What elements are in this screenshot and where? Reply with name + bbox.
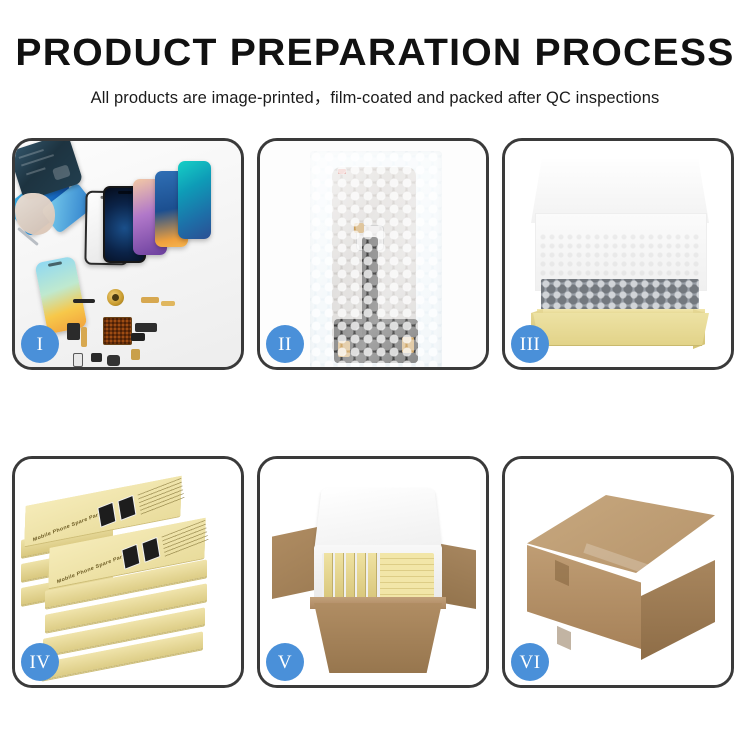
- step-badge-iii: III: [511, 325, 549, 363]
- step-badge-vi: VI: [511, 643, 549, 681]
- kraft-box-upright-3: [346, 553, 355, 599]
- styrofoam-interior-icon: [322, 553, 434, 599]
- part-sim-tray-icon: [73, 353, 83, 367]
- part-flex-cable-1-icon: [141, 297, 159, 303]
- kraft-box-upright-4: [357, 553, 366, 599]
- kraft-boxes-flat-stack: [380, 553, 434, 599]
- step-vi-photo: VI: [505, 459, 731, 685]
- part-speaker-icon: [73, 299, 95, 303]
- step-ii-photo: II: [260, 141, 486, 367]
- step-panel-vi[interactable]: VI: [502, 456, 734, 688]
- step-iii-photo: III: [505, 141, 731, 367]
- part-vibrator-icon: [107, 355, 120, 366]
- part-flex-cable-3-icon: [135, 323, 157, 332]
- part-button-strip-icon: [131, 333, 145, 341]
- step-panel-iv[interactable]: Mobile Phone Spare Parts Mobile Phone Sp…: [12, 456, 244, 688]
- carton-front-panel-icon: [314, 603, 442, 673]
- step-panel-i[interactable]: I: [12, 138, 244, 370]
- step-panel-v[interactable]: V: [257, 456, 489, 688]
- step-badge-v: V: [266, 643, 304, 681]
- steps-grid: I II: [12, 138, 738, 690]
- part-copper-coil-icon: [107, 289, 124, 306]
- step-badge-i: I: [21, 325, 59, 363]
- kraft-box-upright-1: [324, 553, 333, 599]
- plastic-sheen-icon: [310, 151, 442, 367]
- part-connector-grid-icon: [103, 317, 132, 345]
- header: PRODUCT PREPARATION PROCESS All products…: [0, 0, 750, 108]
- step-badge-ii: II: [266, 325, 304, 363]
- kraft-box-front-icon: [533, 313, 709, 346]
- bubble-wrap-bag-icon: [310, 151, 442, 367]
- product-preparation-infographic: PRODUCT PREPARATION PROCESS All products…: [0, 0, 750, 750]
- part-camera-icon: [91, 353, 102, 362]
- kraft-box-stack-icon: Mobile Phone Spare Parts Mobile Phone Sp…: [21, 483, 241, 673]
- white-foam-sheet-icon: [539, 233, 701, 283]
- step-panel-iii[interactable]: III: [502, 138, 734, 370]
- part-flex-cable-5-icon: [81, 327, 87, 347]
- step-panel-ii[interactable]: II: [257, 138, 489, 370]
- part-flex-cable-2-icon: [161, 301, 175, 306]
- step-i-photo: I: [15, 141, 241, 367]
- page-subtitle: All products are image-printed，film-coat…: [0, 84, 750, 108]
- step-badge-iv: IV: [21, 643, 59, 681]
- carton-tab-lower-icon: [557, 626, 571, 650]
- kraft-box-upright-5: [368, 553, 377, 599]
- step-iv-photo: Mobile Phone Spare Parts Mobile Phone Sp…: [15, 459, 241, 685]
- step-v-photo: V: [260, 459, 486, 685]
- phone-colorful-front-icon: [34, 256, 87, 334]
- kraft-box-upright-2: [335, 553, 344, 599]
- phone-teal-icon: [178, 161, 211, 239]
- part-gold-chip-icon: [131, 349, 140, 360]
- part-flex-cable-4-icon: [67, 323, 80, 340]
- carton-right-face-icon: [641, 560, 715, 660]
- page-title: PRODUCT PREPARATION PROCESS: [0, 34, 750, 72]
